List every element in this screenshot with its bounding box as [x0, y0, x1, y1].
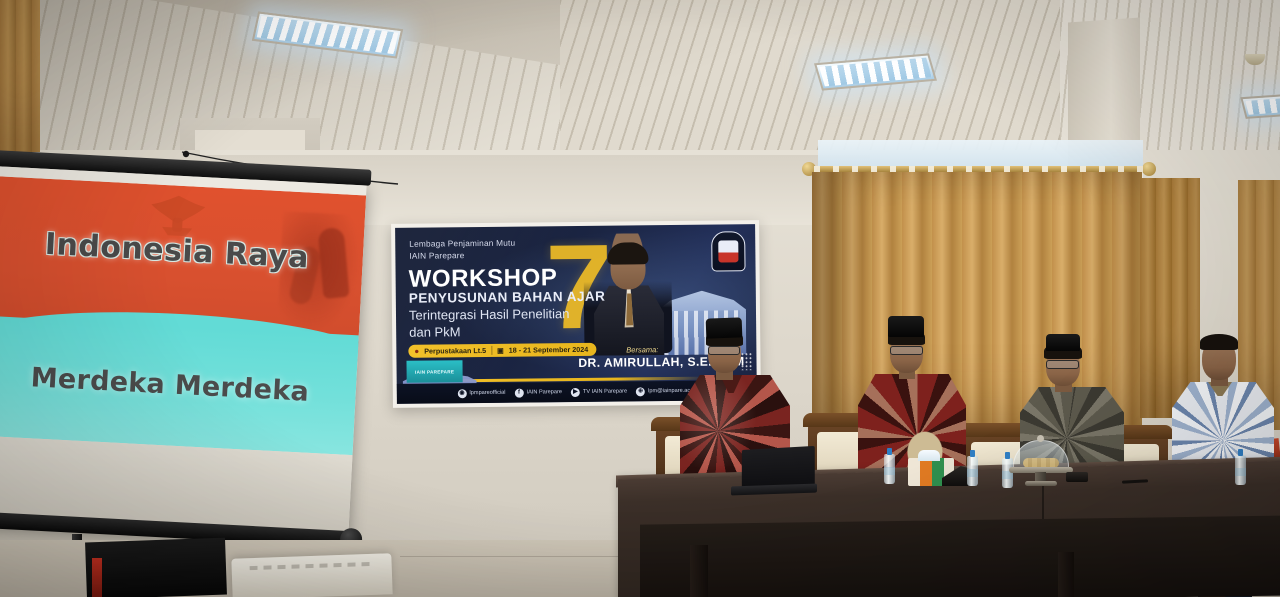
water-bottle — [884, 454, 895, 484]
location-pin-icon: ● — [414, 347, 419, 356]
chip-separator — [491, 346, 492, 355]
cake-foot — [1025, 481, 1057, 486]
seminar-room-photo: Indonesia Raya Merdeka Merdeka 7 — [0, 0, 1280, 597]
social-item: f IAIN Parepare — [514, 388, 562, 397]
banner-subheadline: PENYUSUNAN BAHAN AJAR — [409, 289, 606, 306]
social-handle: IAIN Parepare — [526, 389, 562, 395]
cake-stand — [1009, 440, 1073, 486]
emblem-inner-shield — [718, 240, 738, 262]
social-item: ▶ TV IAIN Parepare — [571, 387, 627, 397]
website-icon: ⊕ — [636, 387, 645, 396]
person-2-peci-cap — [888, 316, 924, 337]
youtube-icon: ▶ — [571, 387, 580, 396]
small-table-object — [1066, 472, 1088, 482]
facebook-icon: f — [514, 388, 523, 397]
projected-slide: Indonesia Raya Merdeka Merdeka — [0, 176, 366, 455]
curtain-top-left — [0, 0, 40, 152]
banner-venue: Perpustakaan Lt.5 — [424, 346, 486, 356]
foreground-red-strip — [92, 558, 102, 597]
screen-surface: Indonesia Raya Merdeka Merdeka — [0, 166, 367, 543]
banner-speaker-prefix: Bersama: — [626, 345, 658, 354]
calendar-icon: ▣ — [497, 346, 504, 354]
campus-logo: IAIN PAREPARE — [406, 360, 462, 383]
person-1-glasses-icon — [708, 346, 740, 355]
social-item: ◉ lpmpareofficial — [457, 388, 505, 398]
social-handle: lpmpareofficial — [470, 390, 506, 396]
speaker-photo-hair — [607, 242, 648, 264]
table-leg — [690, 545, 708, 597]
person-1-peci-cap — [706, 317, 743, 338]
banner-organizer: Lembaga Penjaminan Mutu IAIN Parepare — [409, 237, 515, 262]
banner-date: 18 - 21 September 2024 — [509, 345, 589, 355]
banner-organizer-line1: Lembaga Penjaminan Mutu — [409, 237, 515, 250]
banner-venue-date-chip: ● Perpustakaan Lt.5 ▣ 18 - 21 September … — [408, 343, 596, 358]
water-bottle — [1235, 455, 1246, 485]
foreground-dark-equipment — [85, 538, 227, 597]
institution-emblem-icon — [711, 231, 745, 271]
table-front-panel — [640, 515, 1280, 597]
person-3-glasses-icon — [1046, 360, 1079, 369]
instagram-icon: ◉ — [457, 389, 466, 398]
social-handle: TV IAIN Parepare — [583, 388, 627, 394]
ceiling-light-icon — [1240, 93, 1280, 119]
person-2-glasses-icon — [890, 346, 923, 355]
glass-dome — [1013, 440, 1069, 470]
dome-knob — [1037, 435, 1044, 442]
water-bottle — [967, 456, 978, 486]
foreground-white-equipment — [231, 553, 392, 597]
person-3-peci-cap — [1046, 334, 1080, 351]
person-4-hair — [1200, 334, 1238, 350]
banner-detail-line2: dan PkM — [409, 324, 460, 340]
banner-organizer-line2: IAIN Parepare — [409, 249, 515, 262]
projector-screen: Indonesia Raya Merdeka Merdeka — [0, 150, 371, 569]
banner-detail-line1: Terintegrasi Hasil Penelitian — [409, 306, 570, 323]
table-leg — [1058, 552, 1074, 597]
